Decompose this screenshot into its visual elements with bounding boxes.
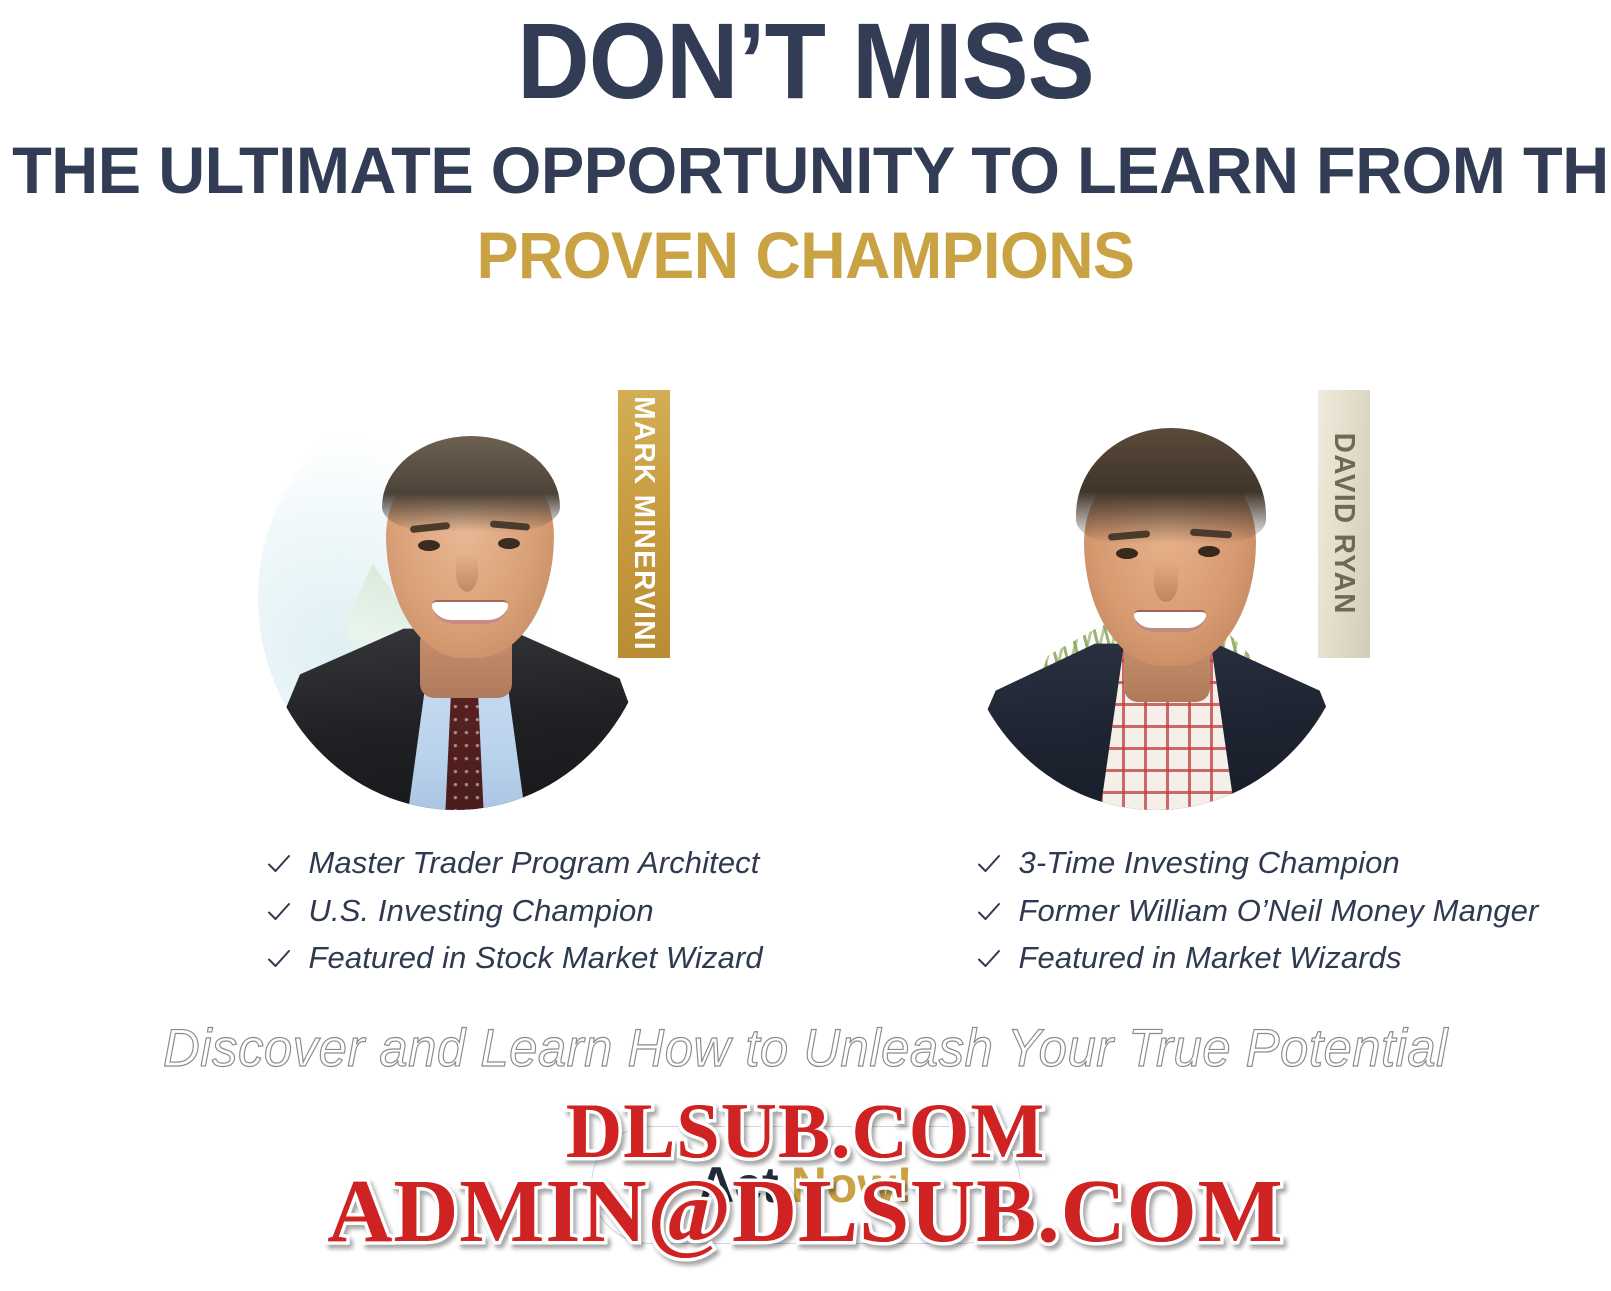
check-icon: [976, 946, 1002, 972]
bullet-list-mark-minervini: Master Trader Program Architect U.S. Inv…: [106, 843, 806, 986]
list-item-label: Former William O’Neil Money Manger: [1019, 891, 1539, 931]
list-item-label: Featured in Stock Market Wizard: [309, 938, 763, 978]
list-item-label: U.S. Investing Champion: [309, 891, 654, 931]
check-icon: [266, 851, 292, 877]
speakers-row: MARK MINERVINI: [0, 378, 1611, 826]
promo-page: DON’T MISS THE ULTIMATE OPPORTUNITY TO L…: [0, 0, 1611, 1291]
headline-line-1: DON’T MISS: [56, 6, 1554, 116]
tagline: Discover and Learn How to Unleash Your T…: [32, 1018, 1579, 1079]
check-icon: [976, 851, 1002, 877]
check-icon: [266, 946, 292, 972]
check-icon: [266, 899, 292, 925]
speaker-card-mark-minervini: MARK MINERVINI: [106, 378, 806, 826]
list-item-label: Featured in Market Wizards: [1019, 938, 1402, 978]
nose: [456, 554, 478, 592]
speaker-card-david-ryan: DAVID RYAN: [806, 378, 1506, 826]
bullet-list-david-ryan: 3-Time Investing Champion Former William…: [806, 843, 1506, 986]
bullets-row: Master Trader Program Architect U.S. Inv…: [0, 843, 1611, 986]
list-item-label: Master Trader Program Architect: [309, 843, 760, 883]
eye-left: [418, 540, 440, 551]
nametag-david-ryan: DAVID RYAN: [1318, 390, 1370, 658]
portrait-wrap-david-ryan: DAVID RYAN: [946, 378, 1366, 826]
list-item: 3-Time Investing Champion: [976, 843, 1400, 883]
portrait-photo-david-ryan: [958, 386, 1354, 810]
headline-block: DON’T MISS THE ULTIMATE OPPORTUNITY TO L…: [0, 0, 1611, 291]
eye-right: [1198, 546, 1220, 557]
list-item: Featured in Stock Market Wizard: [266, 938, 763, 978]
nametag-label: MARK MINERVINI: [627, 397, 660, 652]
list-item-label: 3-Time Investing Champion: [1019, 843, 1400, 883]
eye-left: [1116, 548, 1138, 559]
list-item: Featured in Market Wizards: [976, 938, 1402, 978]
headline-line-3: PROVEN CHAMPIONS: [40, 221, 1570, 290]
nametag-mark-minervini: MARK MINERVINI: [618, 390, 670, 658]
nose: [1154, 562, 1178, 602]
smile: [432, 600, 508, 624]
list-item: Former William O’Neil Money Manger: [976, 891, 1539, 931]
list-item: Master Trader Program Architect: [266, 843, 760, 883]
smile: [1134, 610, 1206, 632]
portrait-photo-mark-minervini: [258, 386, 654, 810]
headline-line-2: THE ULTIMATE OPPORTUNITY TO LEARN FROM T…: [12, 136, 1599, 205]
watermark-email: ADMIN@DLSUB.COM: [327, 1160, 1283, 1263]
check-icon: [976, 899, 1002, 925]
portrait-wrap-mark-minervini: MARK MINERVINI: [246, 378, 666, 826]
list-item: U.S. Investing Champion: [266, 891, 654, 931]
eye-right: [498, 538, 520, 549]
nametag-label: DAVID RYAN: [1327, 433, 1360, 615]
